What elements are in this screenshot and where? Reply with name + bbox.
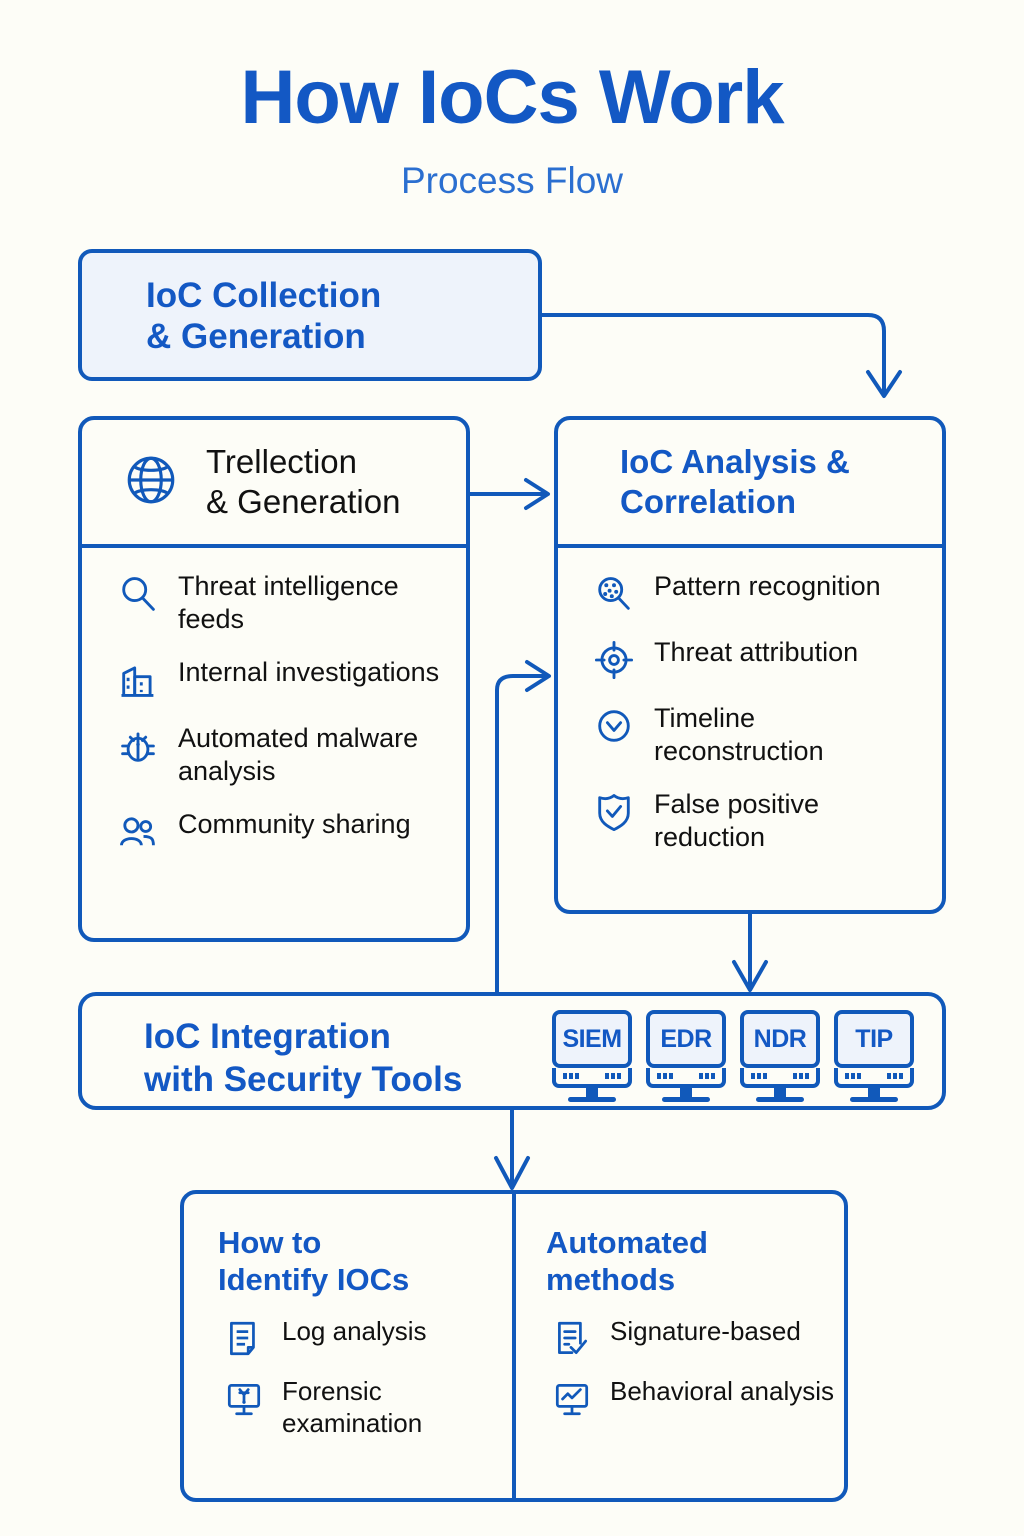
monitor-foot	[756, 1097, 804, 1102]
tool-monitor-ndr[interactable]: NDR	[740, 1010, 820, 1102]
ioc-analysis-header: IoC Analysis &Correlation	[558, 420, 942, 548]
collection-sources-card[interactable]: Trellection& Generation Threat intellige…	[78, 416, 470, 942]
monitor-dots-right	[793, 1073, 809, 1079]
monitor-dots-left	[751, 1073, 767, 1079]
monitor-dots-right	[699, 1073, 715, 1079]
ioc-integration-bar[interactable]: IoC Integrationwith Security Tools SIEM …	[78, 992, 946, 1110]
ioc-analysis-list: Pattern recognition Threat attribution	[558, 548, 942, 874]
list-item[interactable]: False positive reduction	[558, 788, 942, 854]
shield-check-icon	[586, 788, 642, 834]
target-icon	[586, 636, 642, 682]
collection-sources-title: Trellection& Generation	[206, 442, 400, 521]
list-item-label: Signature-based	[610, 1316, 801, 1348]
collection-sources-header: Trellection& Generation	[82, 420, 466, 548]
monitor-base	[834, 1068, 914, 1088]
identify-automated-title: Automatedmethods	[546, 1224, 844, 1298]
list-item-label: Log analysis	[282, 1316, 427, 1348]
list-item-label: Internal investigations	[178, 656, 439, 689]
arrowhead-sources-to-analysis	[526, 480, 548, 508]
monitor-base	[552, 1068, 632, 1088]
document-lines-icon	[218, 1316, 270, 1360]
arrowhead-integration-to-identify	[496, 1158, 528, 1188]
identify-manual-column: How toIdentify IOCs Log analysis	[184, 1194, 514, 1498]
list-item-label: Pattern recognition	[654, 570, 881, 603]
security-tools-group: SIEM EDR NDR	[552, 1010, 914, 1102]
list-item-label: Threat intelligence feeds	[178, 570, 446, 636]
identify-automated-column: Automatedmethods Signature-based	[514, 1194, 844, 1498]
monitor-foot	[850, 1097, 898, 1102]
infographic-canvas: How IoCs Work Process Flow IoC Collectio…	[0, 0, 1024, 1536]
monitor-base	[740, 1068, 820, 1088]
list-item[interactable]: Internal investigations	[82, 656, 466, 702]
list-item-label: Behavioral analysis	[610, 1376, 834, 1408]
tool-label: SIEM	[552, 1010, 632, 1068]
clock-icon	[586, 702, 642, 748]
list-item-label: Community sharing	[178, 808, 411, 841]
monitor-dots-left	[563, 1073, 579, 1079]
monitor-neck	[868, 1088, 880, 1097]
ioc-collection-title: IoC Collection& Generation	[146, 275, 381, 358]
list-item[interactable]: Threat attribution	[558, 636, 942, 682]
monitor-neck	[586, 1088, 598, 1097]
monitor-base	[646, 1068, 726, 1088]
list-item[interactable]: Threat intelligence feeds	[82, 570, 466, 636]
list-item-label: Threat attribution	[654, 636, 858, 669]
magnifier-dots-icon	[586, 570, 642, 616]
ioc-analysis-card[interactable]: IoC Analysis &Correlation Pattern rec	[554, 416, 946, 914]
tool-label: NDR	[740, 1010, 820, 1068]
list-item-label: Forensic examination	[282, 1376, 514, 1439]
list-item[interactable]: Forensic examination	[218, 1376, 514, 1439]
magnifier-icon	[110, 570, 166, 616]
identify-iocs-box[interactable]: How toIdentify IOCs Log analysis	[180, 1190, 848, 1502]
monitor-dots-right	[605, 1073, 621, 1079]
list-item[interactable]: Automated malware analysis	[82, 722, 466, 788]
tool-label: EDR	[646, 1010, 726, 1068]
bug-icon	[110, 722, 166, 768]
list-item[interactable]: Pattern recognition	[558, 570, 942, 616]
page-title: How IoCs Work	[0, 60, 1024, 136]
monitor-dots-right	[887, 1073, 903, 1079]
list-item-label: False positive reduction	[654, 788, 926, 854]
tool-monitor-edr[interactable]: EDR	[646, 1010, 726, 1102]
monitor-foot	[568, 1097, 616, 1102]
monitor-dots-left	[657, 1073, 673, 1079]
collection-sources-list: Threat intelligence feeds Internal inves…	[82, 548, 466, 874]
connector-integration-to-analysis	[497, 676, 544, 992]
ioc-integration-title: IoC Integrationwith Security Tools	[144, 1016, 462, 1101]
chart-monitor-icon	[546, 1376, 598, 1420]
monitor-neck	[680, 1088, 692, 1097]
monitor-neck	[774, 1088, 786, 1097]
list-item-label: Timeline reconstruction	[654, 702, 926, 768]
people-icon	[110, 808, 166, 854]
list-item-label: Automated malware analysis	[178, 722, 446, 788]
monitor-dots-left	[845, 1073, 861, 1079]
list-item[interactable]: Behavioral analysis	[546, 1376, 844, 1420]
identify-manual-title: How toIdentify IOCs	[218, 1224, 514, 1298]
arrowhead-collection-to-analysis	[868, 372, 900, 396]
tool-monitor-siem[interactable]: SIEM	[552, 1010, 632, 1102]
document-check-icon	[546, 1316, 598, 1360]
globe-icon	[122, 451, 180, 514]
arrowhead-analysis-to-integration	[734, 962, 766, 990]
connector-collection-to-analysis	[542, 315, 884, 392]
page-subtitle: Process Flow	[0, 160, 1024, 202]
forensic-monitor-icon	[218, 1376, 270, 1420]
ioc-analysis-title: IoC Analysis &Correlation	[620, 442, 850, 521]
list-item[interactable]: Log analysis	[218, 1316, 514, 1360]
tool-label: TIP	[834, 1010, 914, 1068]
list-item[interactable]: Signature-based	[546, 1316, 844, 1360]
list-item[interactable]: Timeline reconstruction	[558, 702, 942, 768]
monitor-foot	[662, 1097, 710, 1102]
connector-sources-to-integration	[274, 942, 400, 980]
building-icon	[110, 656, 166, 702]
list-item[interactable]: Community sharing	[82, 808, 466, 854]
arrowhead-integration-to-analysis	[527, 662, 549, 690]
tool-monitor-tip[interactable]: TIP	[834, 1010, 914, 1102]
ioc-collection-box[interactable]: IoC Collection& Generation	[78, 249, 542, 381]
